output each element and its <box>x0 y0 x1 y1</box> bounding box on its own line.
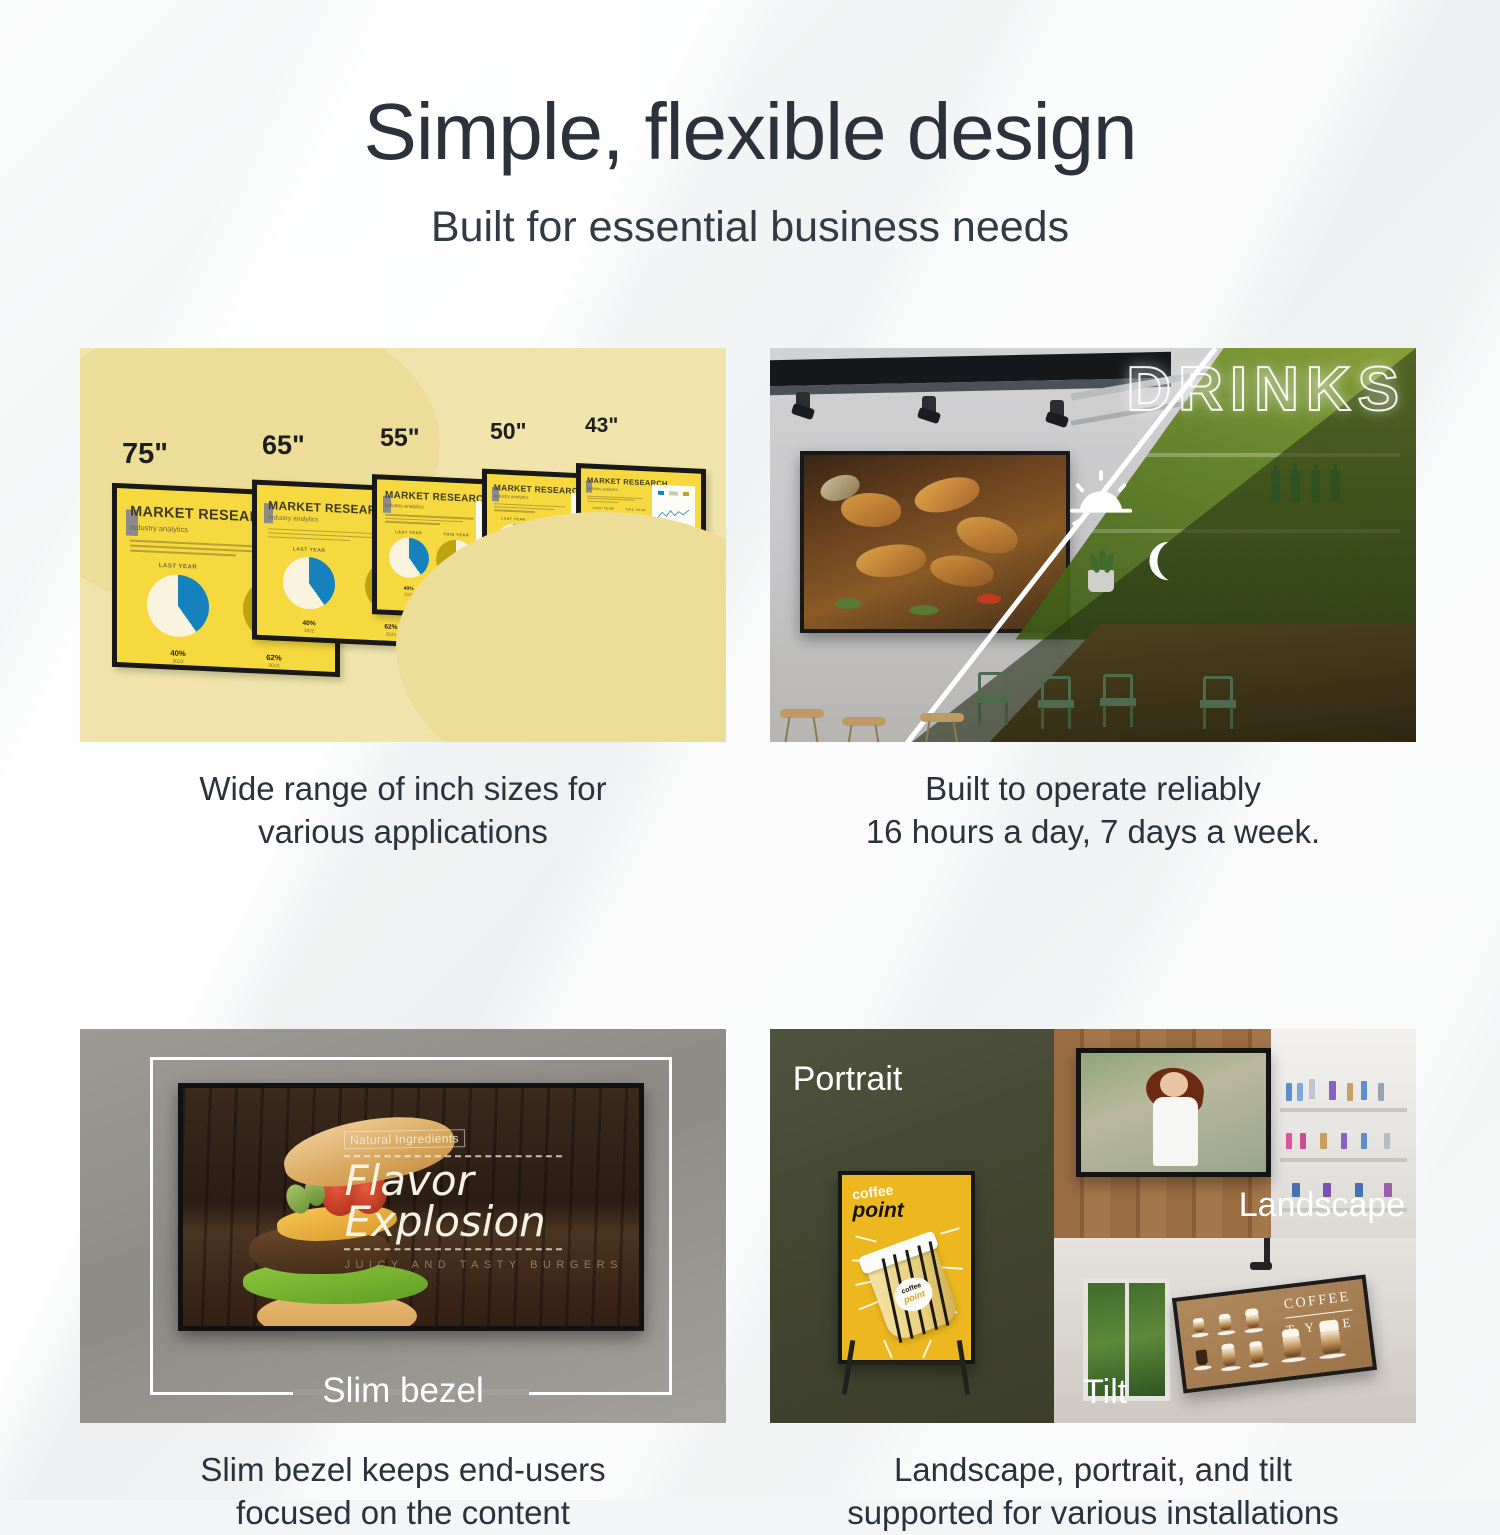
product-bottle <box>1384 1133 1390 1149</box>
cup-saucer <box>1218 1329 1236 1335</box>
slim-bezel-label: Slim bezel <box>322 1371 483 1411</box>
chicken-piece <box>911 471 983 520</box>
pie-year-2023: 2023 <box>536 570 569 575</box>
chair-back <box>978 672 1008 698</box>
pie-label-this-year: THIS YEAR <box>536 518 569 523</box>
display-43: MARKET RESEARCH Industry analytics LAST … <box>576 463 706 577</box>
pie-year-2022: 2022 <box>497 568 530 573</box>
easel-crossbar <box>848 1361 966 1365</box>
line-chart-icon <box>658 498 689 529</box>
bar-chart-icon <box>577 536 610 552</box>
pie-label-last-year: LAST YEAR <box>147 562 209 571</box>
spotlight-icon <box>922 396 936 418</box>
pie-chart-last-year <box>147 573 209 638</box>
chair-leg <box>1041 707 1044 729</box>
neon-sign-drinks: DRINKS <box>1126 354 1406 425</box>
cup-saucer <box>1244 1327 1263 1333</box>
pie-year-2023: 2023 <box>436 593 476 600</box>
tilt-display: COFFEE T Y P E <box>1172 1274 1378 1393</box>
spotlight-icon <box>1050 400 1064 422</box>
label-landscape: Landscape <box>1239 1186 1405 1225</box>
chair-back <box>1041 676 1071 702</box>
pie-value-this-year: 62% <box>536 561 569 571</box>
coffee-cup-item <box>1242 1307 1264 1333</box>
pie-year-2023: 2023 <box>365 631 417 638</box>
panel-slim-bezel-image: Natural Ingredients Flavor Explosion JUI… <box>80 1029 726 1423</box>
caption-orientations: Landscape, portrait, and tilt supported … <box>770 1449 1416 1535</box>
product-bottle <box>1347 1083 1353 1101</box>
cup-glass <box>1194 1322 1206 1333</box>
percent-sign: % <box>275 653 282 662</box>
moon-icon <box>1136 538 1182 584</box>
digital-menu-display <box>800 451 1070 633</box>
caption-sizes: Wide range of inch sizes for various app… <box>80 768 726 854</box>
panel-reliability-image: DRINKS <box>770 348 1416 742</box>
easel-leg <box>842 1340 856 1395</box>
chicken-piece <box>953 512 1021 558</box>
spotlight-icon <box>796 392 810 414</box>
product-bottle <box>1309 1079 1315 1099</box>
cup-glass <box>1320 1330 1342 1354</box>
ad-headline-line2: Explosion <box>344 1202 623 1242</box>
pie-block-last-year: LAST YEAR 40% 2022 <box>147 562 209 666</box>
plant-icon <box>1088 570 1114 592</box>
chair-leg <box>1230 707 1233 729</box>
chair-leg <box>1068 707 1071 729</box>
label-tilt: Tilt <box>1083 1373 1127 1412</box>
person-on-screen <box>1144 1072 1207 1168</box>
cup-glass <box>1246 1314 1260 1327</box>
pie-year-2023: 2023 <box>621 552 650 557</box>
caption-line-2: various applications <box>80 811 726 854</box>
chicken-piece <box>855 541 929 582</box>
caption-line-2: focused on the content <box>80 1492 726 1535</box>
pie-label-last-year: LAST YEAR <box>497 516 530 521</box>
percent-sign: % <box>179 649 186 658</box>
bar-chart-icon <box>658 538 689 561</box>
plant-pot <box>1088 570 1114 592</box>
green-chair-icon <box>975 672 1011 724</box>
dashed-divider <box>344 1248 562 1250</box>
product-bottle <box>1341 1133 1347 1149</box>
cup-glass <box>1219 1318 1232 1330</box>
easel-leg <box>957 1340 971 1395</box>
sun-icon <box>1070 470 1132 532</box>
feature-cell-reliability: DRINKS <box>770 348 1416 854</box>
pie-value-last-year: 40% <box>589 544 618 552</box>
feature-row-1: 75" MARKET RESEARCH Industry analytics <box>80 348 1416 854</box>
caption-line-1: Wide range of inch sizes for <box>80 768 726 811</box>
tilt-scene: COFFEE T Y P E <box>1054 1238 1416 1423</box>
pie-label-this-year: THIS YEAR <box>621 507 650 512</box>
cup-glass <box>1222 1347 1237 1365</box>
pie-chart-this-year <box>621 513 650 543</box>
legend-swatch-gold <box>683 492 689 496</box>
panel-orientations-image: Portrait coffee point <box>770 1029 1416 1423</box>
pie-block-last-year: LAST YEAR 40% 2022 <box>589 506 618 556</box>
bar-chart-icon <box>482 549 523 569</box>
ceiling-mount-plate <box>1250 1262 1272 1270</box>
feature-cell-slim-bezel: Natural Ingredients Flavor Explosion JUI… <box>80 1029 726 1535</box>
stool-seat <box>780 709 824 718</box>
pie-block-last-year: LAST YEAR 40% 2022 <box>389 528 429 597</box>
infographic-page: Simple, flexible design Built for essent… <box>0 0 1500 1500</box>
coffee-cup-item <box>1315 1319 1346 1360</box>
pie-block-last-year: LAST YEAR 40% 2022 <box>497 516 530 573</box>
coffee-cup-item <box>1192 1349 1212 1371</box>
pie-number-40: 40 <box>170 648 179 657</box>
pie-value-last-year: 40% <box>497 559 530 569</box>
legend-line <box>669 491 677 495</box>
slide-stats-card <box>652 484 695 558</box>
pie-chart-last-year <box>283 556 335 610</box>
pie-chart-this-year <box>436 539 476 581</box>
pie-chart-last-year <box>389 536 429 578</box>
chair-leg <box>1103 705 1106 727</box>
body <box>1153 1097 1198 1166</box>
pie-chart-last-year <box>497 523 530 557</box>
page-subtitle: Built for essential business needs <box>0 206 1500 249</box>
green-chair-icon <box>1038 676 1074 728</box>
coffee-cup-illustration: coffee point <box>865 1242 960 1343</box>
product-bottle <box>1329 1081 1336 1100</box>
chicken-piece <box>928 553 995 590</box>
cup-saucer <box>1319 1352 1346 1359</box>
cup-glass <box>1283 1335 1302 1357</box>
size-label-75: 75" <box>122 438 168 471</box>
cup-saucer <box>1194 1365 1212 1371</box>
green-chair-icon <box>1200 676 1236 728</box>
flavor-ad-copy: Natural Ingredients Flavor Explosion JUI… <box>344 1130 623 1271</box>
page-header: Simple, flexible design Built for essent… <box>0 0 1500 249</box>
product-bottle <box>1286 1133 1292 1149</box>
cup-saucer <box>1220 1365 1240 1371</box>
panel-sizes-image: 75" MARKET RESEARCH Industry analytics <box>80 348 726 742</box>
product-bottle <box>1320 1133 1327 1149</box>
product-shelf <box>1280 1158 1407 1162</box>
chicken-piece <box>841 493 901 527</box>
pie-chart-last-year <box>589 512 618 542</box>
product-bottle <box>1297 1083 1303 1101</box>
slide-pie-group: LAST YEAR 40% 2022 THIS YEAR 62% <box>385 528 480 599</box>
plate <box>235 1326 450 1331</box>
product-bottle <box>1361 1081 1367 1100</box>
caption-reliability: Built to operate reliably 16 hours a day… <box>770 768 1416 854</box>
coffee-point-line2: point <box>852 1199 903 1223</box>
landscape-display <box>1076 1048 1271 1177</box>
caption-line-2: 16 hours a day, 7 days a week. <box>770 811 1416 854</box>
product-bottle <box>1286 1083 1292 1101</box>
portrait-display: coffee point <box>838 1171 974 1364</box>
pie-year-2022: 2022 <box>283 627 335 634</box>
coffee-cup-item <box>1278 1327 1307 1363</box>
cup-glass <box>1250 1345 1265 1362</box>
pie-block-last-year: LAST YEAR 40% 2022 <box>283 546 335 634</box>
sunburst-ray <box>855 1235 877 1242</box>
cup-saucer <box>1192 1332 1209 1338</box>
pie-chart-this-year <box>536 525 569 559</box>
stool-seat <box>920 713 964 722</box>
herb-garnish <box>909 605 939 615</box>
legend-swatch-blue <box>658 490 664 494</box>
product-bottle <box>1378 1083 1384 1101</box>
size-label-65: 65" <box>262 430 305 461</box>
pie-block-this-year: THIS YEAR 62% 2023 <box>536 518 569 575</box>
ad-headline-line1: Flavor <box>344 1161 623 1201</box>
pie-label-this-year: THIS YEAR <box>436 531 476 538</box>
chair-leg <box>1005 703 1008 725</box>
size-label-55: 55" <box>380 424 420 453</box>
stool-icon <box>780 709 824 718</box>
feature-cell-sizes: 75" MARKET RESEARCH Industry analytics <box>80 348 726 854</box>
portrait-scene: Portrait coffee point <box>770 1029 1054 1423</box>
ad-tagline: JUICY AND TASTY BURGERS <box>344 1259 623 1271</box>
chair-back <box>1103 674 1133 700</box>
coffee-cup-item <box>1218 1342 1241 1371</box>
caption-line-1: Slim bezel keeps end-users <box>80 1449 726 1492</box>
coffee-cup-item <box>1246 1339 1269 1367</box>
head <box>1160 1072 1188 1097</box>
pie-block-this-year: THIS YEAR 62% 2023 <box>436 531 476 600</box>
feature-row-2: Natural Ingredients Flavor Explosion JUI… <box>80 1029 1416 1535</box>
pie-block-this-year: THIS YEAR 62% 2023 <box>621 507 650 557</box>
display-size-lineup: 75" MARKET RESEARCH Industry analytics <box>80 348 726 742</box>
green-chair-icon <box>1100 674 1136 726</box>
feature-cell-orientations: Portrait coffee point <box>770 1029 1416 1535</box>
stool-icon <box>920 713 964 722</box>
stool-icon <box>842 717 886 726</box>
cup-saucer <box>1248 1361 1268 1367</box>
product-shelf <box>1280 1108 1407 1112</box>
size-label-43: 43" <box>585 414 618 438</box>
chair-back <box>1203 676 1233 702</box>
caption-line-1: Landscape, portrait, and tilt <box>770 1449 1416 1492</box>
product-bottle <box>1300 1133 1306 1149</box>
herb-garnish <box>835 598 861 609</box>
chair-leg <box>1130 705 1133 727</box>
caption-line-2: supported for various installations <box>770 1492 1416 1535</box>
pie-number-62: 62 <box>266 653 275 662</box>
sunburst-ray <box>940 1227 960 1234</box>
cup-glass <box>1196 1349 1209 1365</box>
pie-label-last-year: LAST YEAR <box>589 506 618 511</box>
pie-value-this-year: 62% <box>436 583 476 595</box>
chair-leg <box>1203 707 1206 729</box>
slide-pie-group: LAST YEAR 40% 2022 THIS YEAR 62% <box>587 506 652 558</box>
pie-label-last-year: LAST YEAR <box>283 546 335 554</box>
caption-line-1: Built to operate reliably <box>770 768 1416 811</box>
burger-ad-display: Natural Ingredients Flavor Explosion JUI… <box>178 1083 644 1331</box>
label-portrait: Portrait <box>793 1060 903 1099</box>
feature-grid: 75" MARKET RESEARCH Industry analytics <box>80 348 1416 1535</box>
stool-seat <box>842 717 886 726</box>
natural-ingredients-badge: Natural Ingredients <box>344 1129 465 1149</box>
pie-label-last-year: LAST YEAR <box>389 528 429 535</box>
pie-year-2022: 2022 <box>389 590 429 597</box>
landscape-scene: Landscape <box>1054 1029 1416 1238</box>
size-label-50: 50" <box>490 418 527 445</box>
coffee-cup-item <box>1190 1317 1209 1338</box>
slide-pie-group: LAST YEAR 40% 2022 THIS YEAR 62% <box>494 516 572 576</box>
chili-garnish <box>977 594 1001 604</box>
display-easel-stand <box>844 1340 969 1395</box>
card-legend <box>658 490 689 495</box>
coffee-cup-item <box>1216 1312 1236 1335</box>
page-title: Simple, flexible design <box>0 92 1500 172</box>
pie-year-2022: 2022 <box>589 551 618 556</box>
caption-slim-bezel: Slim bezel keeps end-users focused on th… <box>80 1449 726 1535</box>
chair-leg <box>978 703 981 725</box>
product-bottle <box>1361 1133 1367 1149</box>
pie-value-this-year: 62% <box>621 545 650 553</box>
